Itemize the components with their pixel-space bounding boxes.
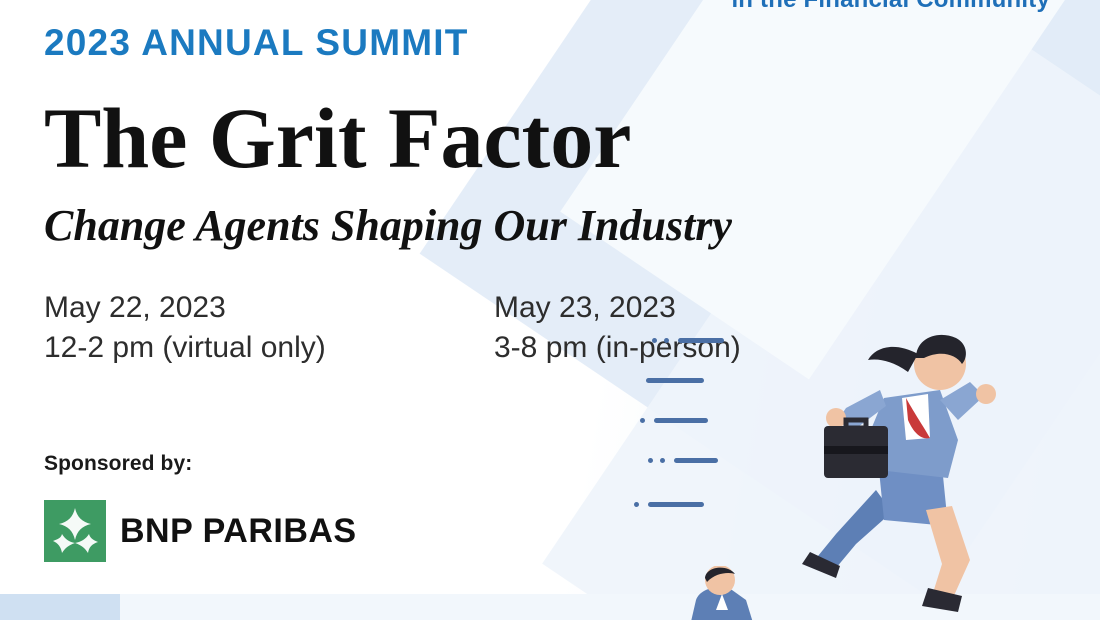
clipped-header-text: in the Financial Community [731,0,1050,14]
poster-canvas: in the Financial Community 2023 ANNUAL S… [0,0,1100,620]
event-date-block-1: May 22, 2023 12-2 pm (virtual only) [44,288,494,367]
secondary-figure-illustration [680,566,800,620]
sponsor-logo: BNP PARIBAS [44,500,357,562]
event-time-1: 12-2 pm (virtual only) [44,328,494,368]
background-bottom-accent [0,594,120,620]
sponsor-name: BNP PARIBAS [120,512,357,551]
event-eyebrow: 2023 ANNUAL SUMMIT [44,22,469,64]
page-title: The Grit Factor [44,88,631,188]
bnp-star-icon [44,500,106,562]
page-subtitle: Change Agents Shaping Our Industry [44,200,732,251]
event-date-1: May 22, 2023 [44,288,494,328]
sponsor-label: Sponsored by: [44,452,192,476]
